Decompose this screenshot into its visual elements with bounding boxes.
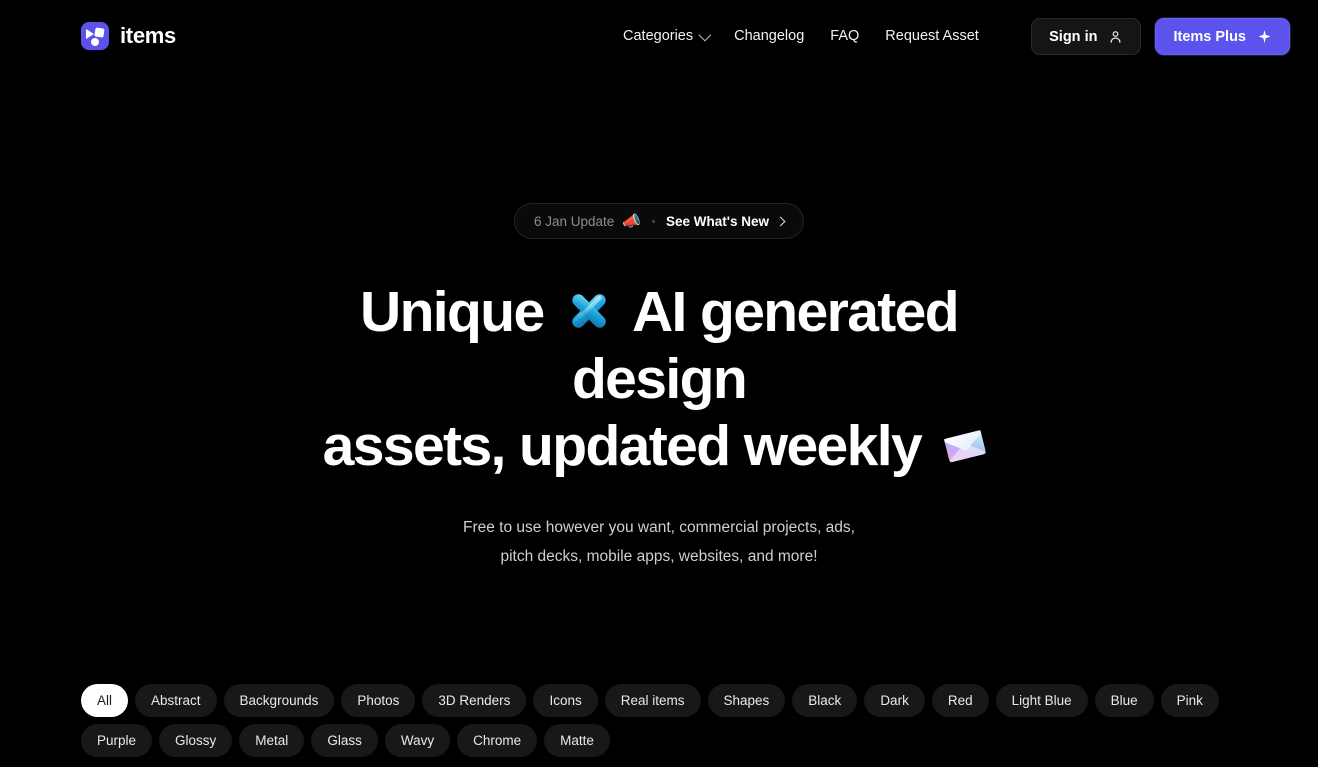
filter-chip-label: Shapes xyxy=(724,693,770,708)
envelope-3d-icon xyxy=(940,421,990,471)
nav-item-request-asset[interactable]: Request Asset xyxy=(872,24,992,48)
filter-chip-matte[interactable]: Matte xyxy=(544,724,610,757)
filter-chip-3d-renders[interactable]: 3D Renders xyxy=(422,684,526,717)
filter-chip-label: Purple xyxy=(97,733,136,748)
hero-headline: Unique xyxy=(279,279,1039,480)
filter-chip-abstract[interactable]: Abstract xyxy=(135,684,217,717)
filter-chip-label: Matte xyxy=(560,733,594,748)
filter-chip-label: Glass xyxy=(327,733,362,748)
filter-chip-light-blue[interactable]: Light Blue xyxy=(996,684,1088,717)
hero-subtitle: Free to use however you want, commercial… xyxy=(424,513,894,571)
filter-chip-blue[interactable]: Blue xyxy=(1095,684,1154,717)
filter-chip-real-items[interactable]: Real items xyxy=(605,684,701,717)
filter-chip-label: Photos xyxy=(357,693,399,708)
headline-text-part1: Unique xyxy=(360,280,544,344)
filter-chip-pink[interactable]: Pink xyxy=(1161,684,1219,717)
nav-item-categories[interactable]: Categories xyxy=(610,24,721,48)
nav-item-faq[interactable]: FAQ xyxy=(817,24,872,48)
logo-triangle-shape xyxy=(86,29,94,39)
megaphone-icon: 📣 xyxy=(622,214,641,229)
sign-in-button[interactable]: Sign in xyxy=(1031,18,1141,55)
filter-chip-backgrounds[interactable]: Backgrounds xyxy=(224,684,335,717)
user-icon xyxy=(1108,29,1123,44)
pill-separator-dot xyxy=(652,220,655,223)
nav-label-request-asset: Request Asset xyxy=(885,24,979,48)
filter-chip-label: Chrome xyxy=(473,733,521,748)
filter-chip-label: Real items xyxy=(621,693,685,708)
see-whats-new-link[interactable]: See What's New xyxy=(666,214,784,229)
items-logo-icon xyxy=(81,22,109,50)
see-whats-new-label: See What's New xyxy=(666,214,769,229)
filter-chip-icons[interactable]: Icons xyxy=(533,684,597,717)
filter-chip-black[interactable]: Black xyxy=(792,684,857,717)
filter-chip-red[interactable]: Red xyxy=(932,684,989,717)
nav-item-changelog[interactable]: Changelog xyxy=(721,24,817,48)
announcement-pill[interactable]: 6 Jan Update 📣 See What's New xyxy=(514,203,804,239)
filter-chip-label: Wavy xyxy=(401,733,434,748)
sparkle-icon xyxy=(1257,29,1272,44)
subtitle-line-2: pitch decks, mobile apps, websites, and … xyxy=(500,548,817,565)
sign-in-label: Sign in xyxy=(1049,29,1097,45)
nav-label-changelog: Changelog xyxy=(734,24,804,48)
chevron-down-icon xyxy=(699,28,712,41)
filter-chip-metal[interactable]: Metal xyxy=(239,724,304,757)
announcement-date-label: 6 Jan Update xyxy=(534,214,614,229)
headline-text-part3: assets, updated weekly xyxy=(323,414,921,478)
hero-section: 6 Jan Update 📣 See What's New Unique xyxy=(0,72,1318,571)
nav-label-categories: Categories xyxy=(623,24,693,48)
filter-chip-glossy[interactable]: Glossy xyxy=(159,724,232,757)
filter-chip-shapes[interactable]: Shapes xyxy=(708,684,786,717)
x-cross-3d-icon xyxy=(563,285,615,337)
items-plus-label: Items Plus xyxy=(1173,29,1246,45)
subtitle-line-1: Free to use however you want, commercial… xyxy=(463,519,855,536)
items-plus-button[interactable]: Items Plus xyxy=(1155,18,1290,55)
filter-chip-label: Pink xyxy=(1177,693,1203,708)
filter-chip-label: Red xyxy=(948,693,973,708)
filter-chip-dark[interactable]: Dark xyxy=(864,684,925,717)
filter-chip-photos[interactable]: Photos xyxy=(341,684,415,717)
page-root: items Categories Changelog FAQ Request A… xyxy=(0,0,1318,767)
filter-chip-label: Light Blue xyxy=(1012,693,1072,708)
brand-logo-link[interactable]: items xyxy=(81,22,176,50)
filter-chip-label: Black xyxy=(808,693,841,708)
site-header: items Categories Changelog FAQ Request A… xyxy=(0,0,1318,72)
filter-chip-glass[interactable]: Glass xyxy=(311,724,378,757)
filter-chip-label: Dark xyxy=(880,693,909,708)
header-actions: Sign in Items Plus xyxy=(1031,18,1290,55)
headline-text-part2: AI generated design xyxy=(572,280,958,411)
filter-chip-label: Icons xyxy=(549,693,581,708)
filter-chip-label: All xyxy=(97,693,112,708)
nav-label-faq: FAQ xyxy=(830,24,859,48)
main-nav: Categories Changelog FAQ Request Asset xyxy=(610,24,992,48)
announcement-update: 6 Jan Update 📣 xyxy=(534,214,641,229)
logo-square-shape xyxy=(94,27,104,37)
filter-chip-label: Abstract xyxy=(151,693,201,708)
filter-chip-label: Glossy xyxy=(175,733,216,748)
filter-chip-label: Blue xyxy=(1111,693,1138,708)
filter-chip-label: Metal xyxy=(255,733,288,748)
filter-chip-label: 3D Renders xyxy=(438,693,510,708)
filter-chip-all[interactable]: All xyxy=(81,684,128,717)
brand-name: items xyxy=(120,25,176,47)
filter-chip-chrome[interactable]: Chrome xyxy=(457,724,537,757)
filter-chip-wavy[interactable]: Wavy xyxy=(385,724,450,757)
logo-circle-shape xyxy=(91,38,99,46)
filter-chip-label: Backgrounds xyxy=(240,693,319,708)
filter-chip-purple[interactable]: Purple xyxy=(81,724,152,757)
chevron-right-icon xyxy=(776,216,786,226)
filter-chip-list: AllAbstractBackgroundsPhotos3D RendersIc… xyxy=(81,684,1241,757)
